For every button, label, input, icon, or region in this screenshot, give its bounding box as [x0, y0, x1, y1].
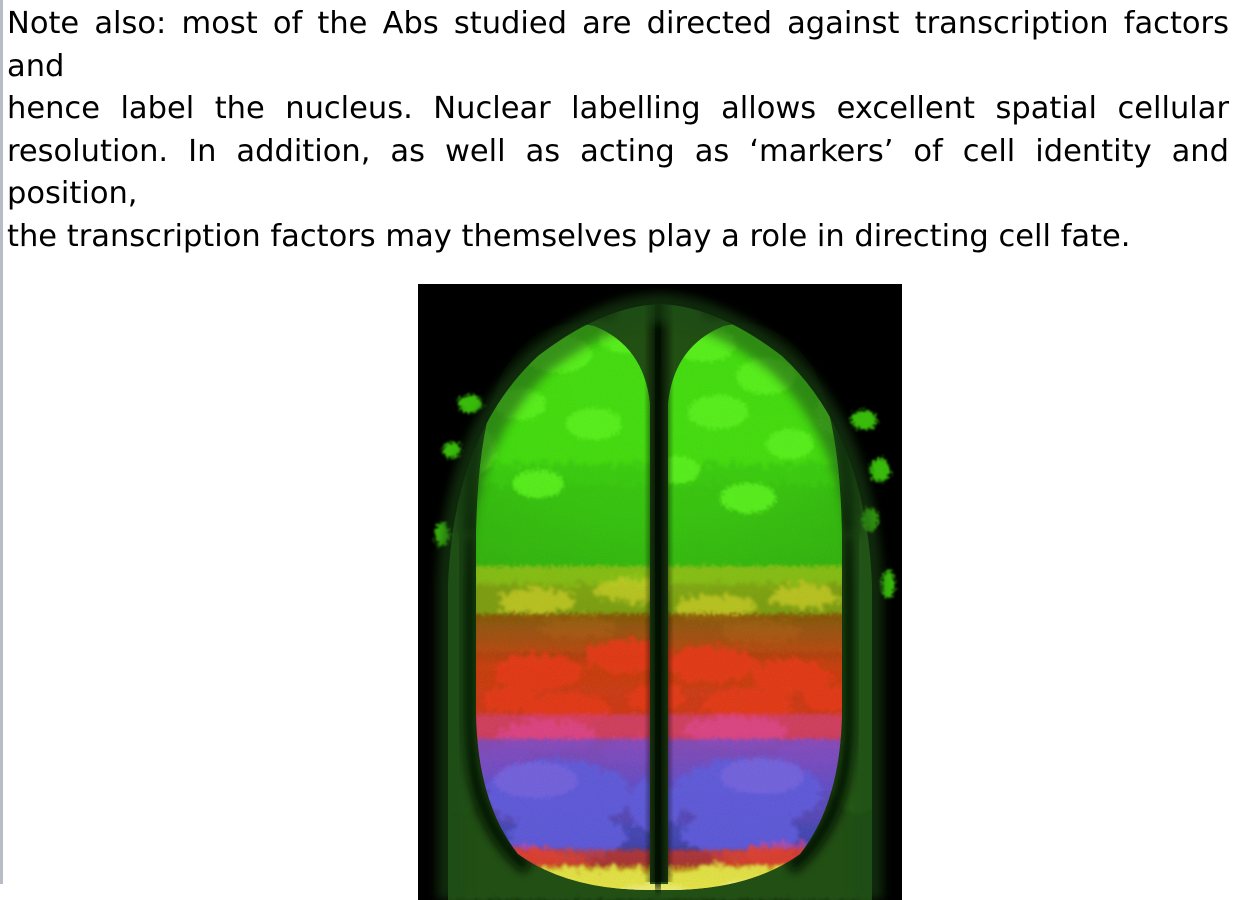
- paragraph-3: the transcription factors may themselves…: [7, 216, 1229, 259]
- slide-body-text: Note also: most of the Abs studied are d…: [7, 3, 1229, 258]
- slide-canvas: Note also: most of the Abs studied are d…: [0, 0, 1236, 884]
- left-edge-rule: [0, 0, 3, 884]
- paragraph-2: hence label the nucleus. Nuclear labelli…: [7, 88, 1229, 216]
- neural-tube-micrograph: [418, 284, 902, 900]
- paragraph-1: Note also: most of the Abs studied are d…: [7, 3, 1229, 88]
- micrograph-canvas: [418, 284, 902, 900]
- ventricular-midline-groove: [644, 302, 674, 884]
